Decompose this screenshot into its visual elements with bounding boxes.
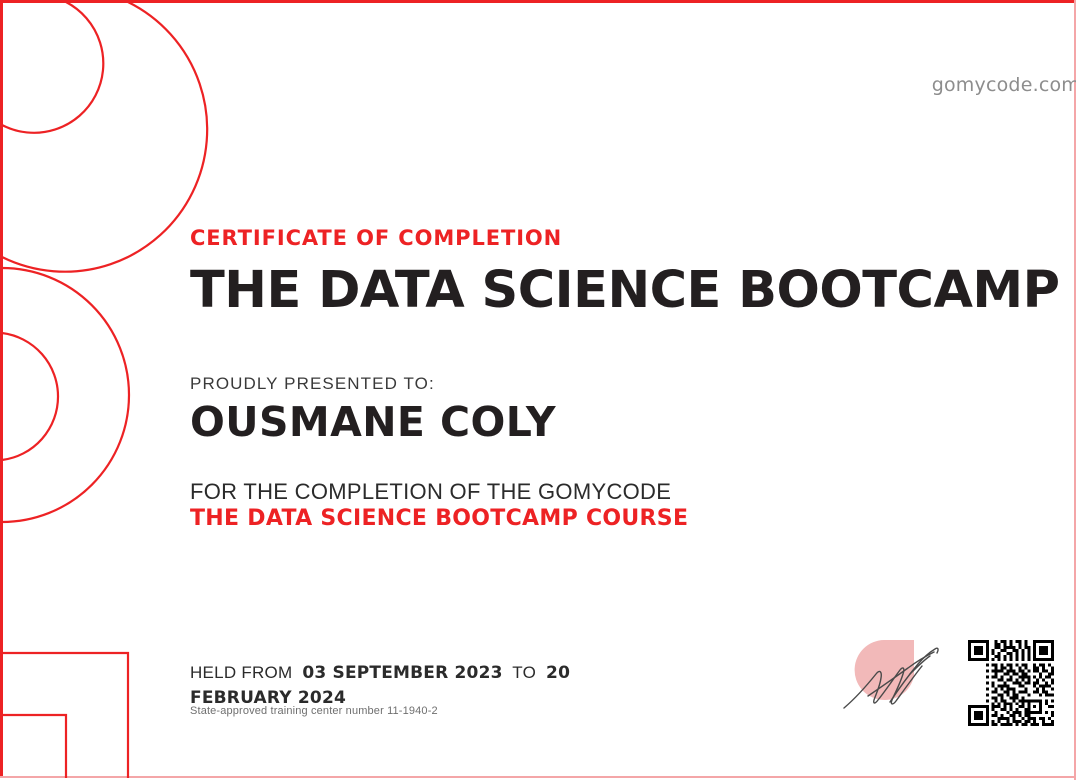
recipient-name: OUSMANE COLY [190, 398, 556, 446]
certificate-eyebrow: CERTIFICATE OF COMPLETION [190, 226, 562, 250]
site-url-watermark: gomycode.com [932, 74, 1076, 96]
to-label: TO [512, 663, 536, 682]
decorative-semicircle-inner-middle [2, 333, 58, 460]
qr-code-image [968, 640, 1054, 726]
decorative-rect-inner-bottom [2, 715, 66, 778]
decorative-arc-outer-top [2, 2, 207, 272]
completion-course-name: THE DATA SCIENCE BOOTCAMP COURSE [190, 506, 688, 531]
border-left [0, 0, 3, 778]
border-top [0, 0, 1076, 3]
start-date: 03 SEPTEMBER 2023 [302, 663, 502, 683]
completion-statement: FOR THE COMPLETION OF THE GOMYCODE [190, 479, 671, 505]
page-title: THE DATA SCIENCE BOOTCAMP [190, 264, 1060, 318]
verification-qr-code[interactable] [968, 640, 1054, 726]
held-from-dates: HELD FROM 03 SEPTEMBER 2023 TO 20 FEBRUA… [190, 661, 660, 710]
presented-to-label: PROUDLY PRESENTED TO: [190, 374, 435, 394]
decorative-arc-inner-top [2, 2, 103, 133]
decorative-semicircle-outer-middle [2, 268, 129, 522]
signature-block [838, 630, 958, 730]
border-bottom [0, 776, 1076, 778]
signature-mark [838, 630, 958, 730]
decorative-rect-outer-bottom [2, 653, 128, 778]
approval-note: State-approved training center number 11… [190, 705, 438, 717]
certificate-page: gomycode.com CERTIFICATE OF COMPLETION T… [0, 0, 1076, 780]
held-from-label: HELD FROM [190, 663, 292, 682]
